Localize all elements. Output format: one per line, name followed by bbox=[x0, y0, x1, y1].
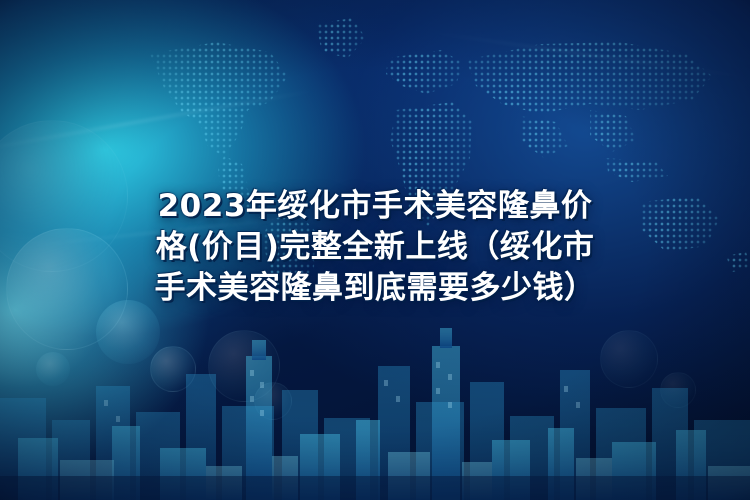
headline-text: 2023年绥化市手术美容隆鼻价 格(价目)完整全新上线（绥化市 手术美容隆鼻到底… bbox=[0, 186, 750, 309]
banner-image: 2023年绥化市手术美容隆鼻价 格(价目)完整全新上线（绥化市 手术美容隆鼻到底… bbox=[0, 0, 750, 500]
